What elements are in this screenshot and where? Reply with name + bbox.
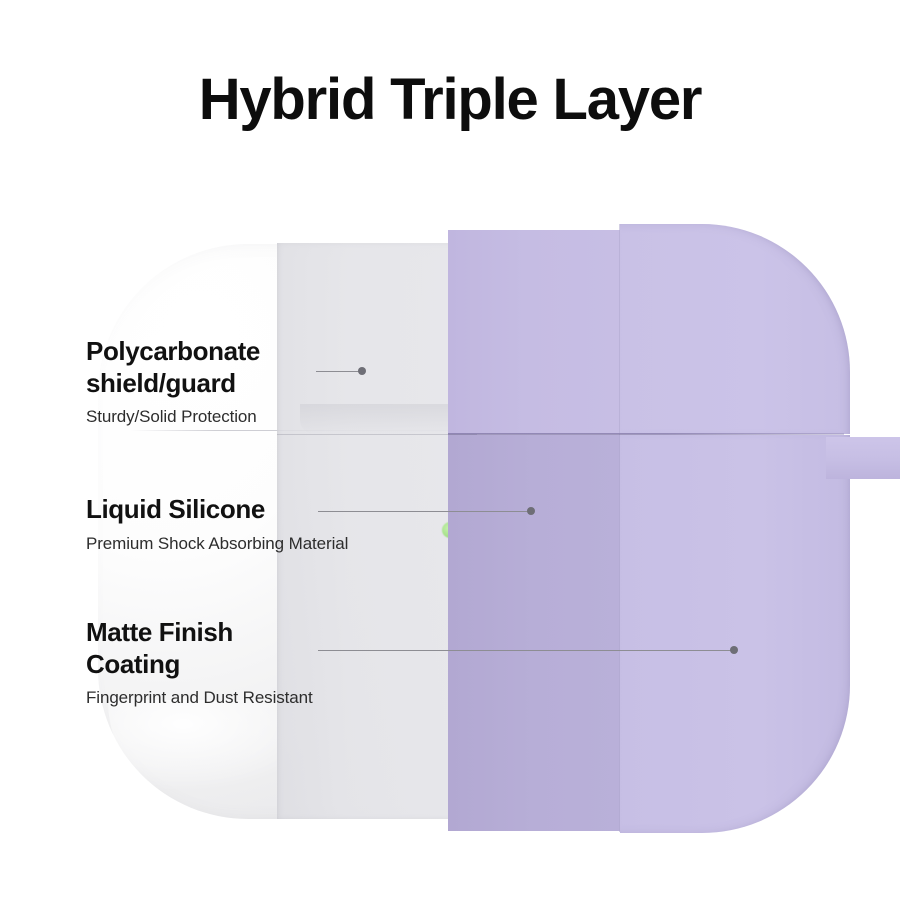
silicone-right-section-bottom <box>620 435 850 833</box>
silicone-left-band-top <box>448 230 620 434</box>
silicone-horizontal-seam <box>448 433 844 435</box>
leader-line-matte-finish <box>318 650 733 651</box>
callout-matte-finish-subtitle: Fingerprint and Dust Resistant <box>86 688 313 708</box>
product-infographic: Hybrid Triple Layer Polycarbonate shield… <box>0 0 900 900</box>
mid-layer-lid-notch <box>300 404 468 434</box>
keychain-tab <box>826 437 900 479</box>
callout-liquid-silicone-subtitle: Premium Shock Absorbing Material <box>86 534 348 554</box>
mid-layer-seam-line <box>277 434 477 435</box>
leader-dot-matte-finish <box>730 646 738 654</box>
leader-line-liquid-silicone <box>318 511 530 512</box>
leader-dot-liquid-silicone <box>527 507 535 515</box>
silicone-right-section-top <box>620 224 850 434</box>
callout-polycarbonate-title: Polycarbonate shield/guard <box>86 336 260 399</box>
callout-matte-finish-title: Matte Finish Coating <box>86 617 313 680</box>
callout-matte-finish: Matte Finish Coating Fingerprint and Dus… <box>86 617 313 708</box>
callout-liquid-silicone: Liquid Silicone Premium Shock Absorbing … <box>86 494 348 554</box>
silicone-vertical-seam <box>619 224 620 832</box>
callout-polycarbonate: Polycarbonate shield/guard Sturdy/Solid … <box>86 336 260 427</box>
callout-liquid-silicone-title: Liquid Silicone <box>86 494 348 526</box>
callout-polycarbonate-subtitle: Sturdy/Solid Protection <box>86 407 260 427</box>
leader-line-polycarbonate <box>316 371 362 372</box>
silicone-left-band-bottom <box>448 435 620 831</box>
product-illustration <box>0 0 900 900</box>
leader-dot-polycarbonate <box>358 367 366 375</box>
